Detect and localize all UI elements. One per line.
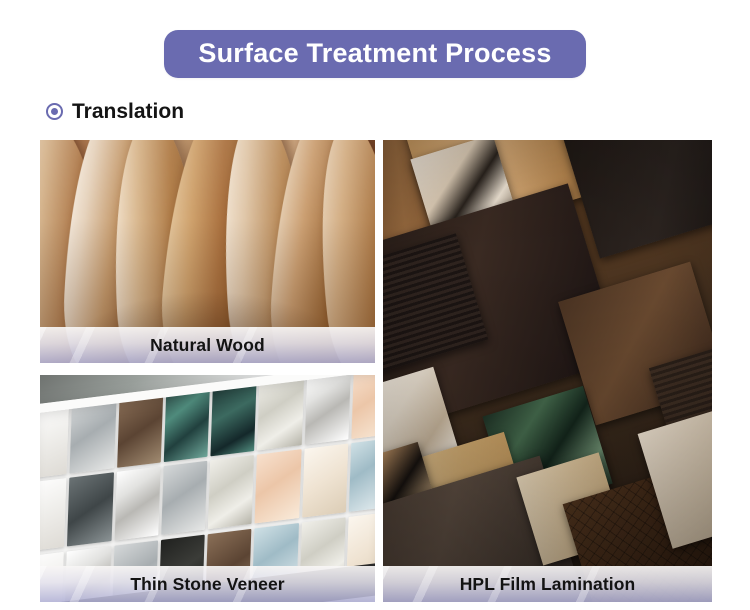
card-thin-stone-veneer[interactable]: Thin Stone Veneer: [40, 375, 375, 602]
title-banner-row: Surface Treatment Process: [0, 0, 750, 100]
material-card-grid: Natural Wood: [40, 140, 712, 602]
section-label-text: Translation: [72, 101, 184, 122]
card-caption-text: Natural Wood: [150, 335, 265, 356]
card-caption-natural-wood: Natural Wood: [40, 327, 375, 363]
photo-hpl-film-lamination: [383, 140, 712, 602]
page-title-banner: Surface Treatment Process: [164, 30, 585, 78]
card-caption-thin-stone-veneer: Thin Stone Veneer: [40, 566, 375, 602]
card-hpl-film-lamination[interactable]: HPL Film Lamination: [383, 140, 712, 602]
hpl-samples-image: [383, 140, 712, 602]
card-caption-hpl-film-lamination: HPL Film Lamination: [383, 566, 712, 602]
section-label-translation: Translation: [0, 96, 750, 126]
radio-filled-icon: [46, 103, 63, 120]
card-natural-wood[interactable]: Natural Wood: [40, 140, 375, 363]
card-caption-text: HPL Film Lamination: [460, 574, 636, 595]
card-caption-text: Thin Stone Veneer: [130, 574, 284, 595]
